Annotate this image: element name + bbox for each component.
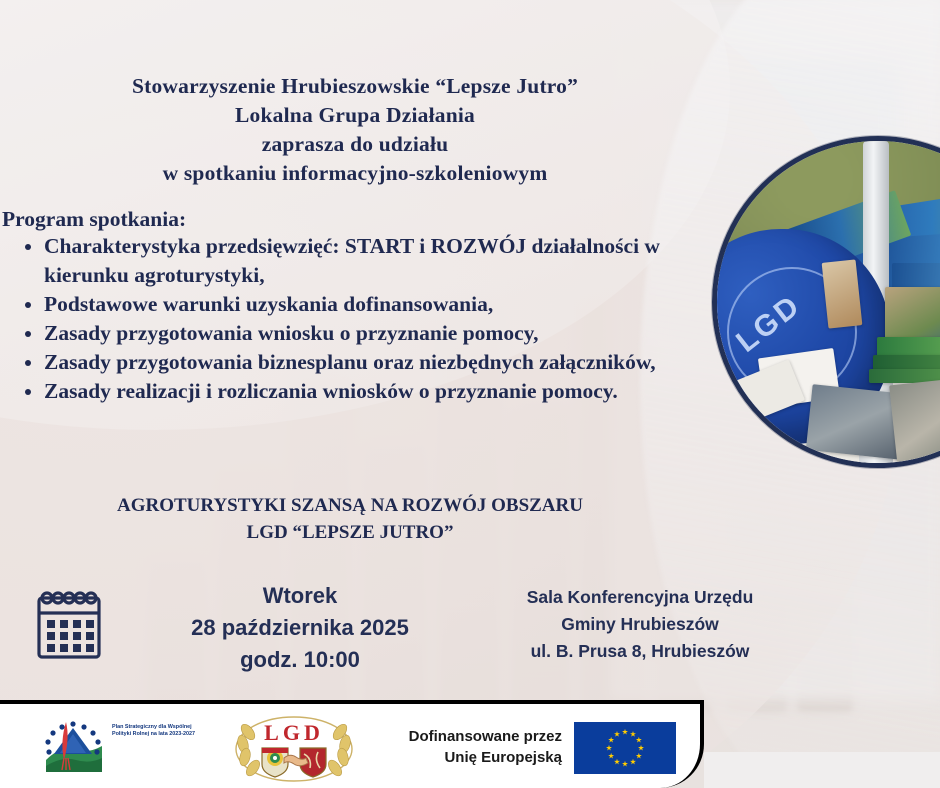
org-line-1: Stowarzyszenie Hrubieszowskie “Lepsze Ju… (0, 72, 710, 101)
event-day-name: Wtorek (120, 580, 480, 612)
program-item: Zasady realizacji i rozliczania wniosków… (44, 377, 684, 406)
organization-header: Stowarzyszenie Hrubieszowskie “Lepsze Ju… (0, 72, 940, 188)
program-list: Charakterystyka przedsięwzięć: START i R… (18, 232, 684, 406)
tagline: AGROTURYSTYKI SZANSĄ NA ROZWÓJ OBSZARU L… (0, 492, 700, 546)
footer-bar: Plan Strategiczny dla Wspólnej Polityki … (0, 700, 704, 788)
org-line-3: zaprasza do udziału (0, 130, 710, 159)
program-item: Charakterystyka przedsięwzięć: START i R… (44, 232, 684, 290)
tagline-line-1: AGROTURYSTYKI SZANSĄ NA ROZWÓJ OBSZARU (0, 492, 700, 519)
event-date-block: Wtorek 28 października 2025 godz. 10:00 (120, 580, 480, 676)
event-date: 28 października 2025 (120, 612, 480, 644)
venue-line-1: Sala Konferencyjna Urzędu (480, 584, 800, 611)
footer-background-right (704, 752, 940, 788)
calendar-icon (36, 589, 102, 661)
cap-logo-text: Plan Strategiczny dla Wspólnej Polityki … (112, 724, 202, 738)
plan-strategiczny-wpr-logo: Plan Strategiczny dla Wspólnej Polityki … (40, 720, 200, 774)
program-item: Zasady przygotowania biznesplanu oraz ni… (44, 348, 684, 377)
venue-line-3: ul. B. Prusa 8, Hrubieszów (480, 638, 800, 665)
org-line-4: w spotkaniu informacyjno-szkoleniowym (0, 159, 710, 188)
program-item: Podstawowe warunki uzyskania dofinansowa… (44, 290, 684, 319)
venue-block: Sala Konferencyjna Urzędu Gminy Hrubiesz… (480, 584, 800, 665)
eu-funding-block: Dofinansowane przez Unię Europejską (392, 722, 682, 774)
program-label: Program spotkania: (2, 207, 186, 232)
tagline-line-2: LGD “LEPSZE JUTRO” (0, 519, 700, 546)
poster-canvas: LGD Stowarzyszenie Hrubieszowskie “Lepsz… (0, 0, 940, 788)
event-time: godz. 10:00 (120, 644, 480, 676)
eu-funding-line-1: Dofinansowane przez (392, 726, 562, 747)
european-union-flag (574, 722, 676, 774)
program-item: Zasady przygotowania wniosku o przyznani… (44, 319, 684, 348)
lgd-lepsze-jutro-logo: LGD (232, 714, 356, 784)
eu-funding-line-2: Unię Europejską (392, 747, 562, 768)
org-line-2: Lokalna Grupa Działania (0, 101, 710, 130)
svg-text:LGD: LGD (264, 720, 324, 745)
eu-funding-text: Dofinansowane przez Unię Europejską (392, 726, 562, 768)
venue-line-2: Gminy Hrubieszów (480, 611, 800, 638)
cap-emblem-icon (40, 720, 106, 774)
